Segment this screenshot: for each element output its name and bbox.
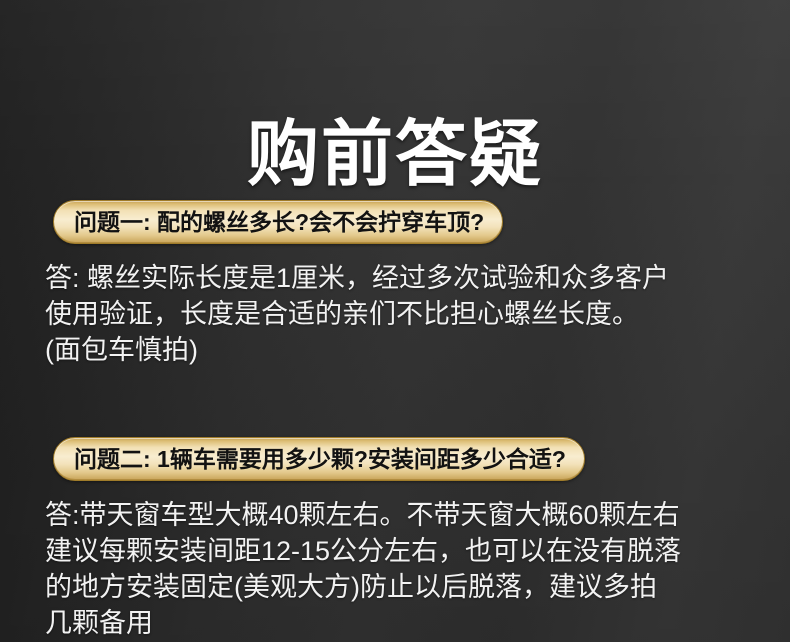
question-banner-1-label: 问题一: 配的螺丝多长?会不会拧穿车顶? [74,210,484,234]
answer-line: 几颗备用 [45,605,757,641]
page-title: 购前答疑 [0,112,790,198]
faq-page: 购前答疑 问题一: 配的螺丝多长?会不会拧穿车顶? 答: 螺丝实际长度是1厘米，… [0,0,790,642]
question-banner-2-label: 问题二: 1辆车需要用多少颗?安装间距多少合适? [74,447,566,471]
answer-line: 建议每颗安装间距12-15公分左右，也可以在没有脱落 [45,533,757,569]
answer-line: 的地方安装固定(美观大方)防止以后脱落，建议多拍 [45,569,757,605]
answer-line: 答:带天窗车型大概40颗左右。不带天窗大概60颗左右 [45,497,757,533]
question-banner-2: 问题二: 1辆车需要用多少颗?安装间距多少合适? [53,437,585,481]
question-banner-1: 问题一: 配的螺丝多长?会不会拧穿车顶? [53,200,503,244]
answer-block-2: 答:带天窗车型大概40颗左右。不带天窗大概60颗左右 建议每颗安装间距12-15… [45,497,757,641]
answer-block-1: 答: 螺丝实际长度是1厘米，经过多次试验和众多客户 使用验证，长度是合适的亲们不… [45,260,757,368]
answer-line: 使用验证，长度是合适的亲们不比担心螺丝长度。 [45,296,757,332]
answer-line: 答: 螺丝实际长度是1厘米，经过多次试验和众多客户 [45,260,757,296]
answer-line: (面包车慎拍) [45,332,757,368]
page-content: 购前答疑 问题一: 配的螺丝多长?会不会拧穿车顶? 答: 螺丝实际长度是1厘米，… [0,0,790,642]
